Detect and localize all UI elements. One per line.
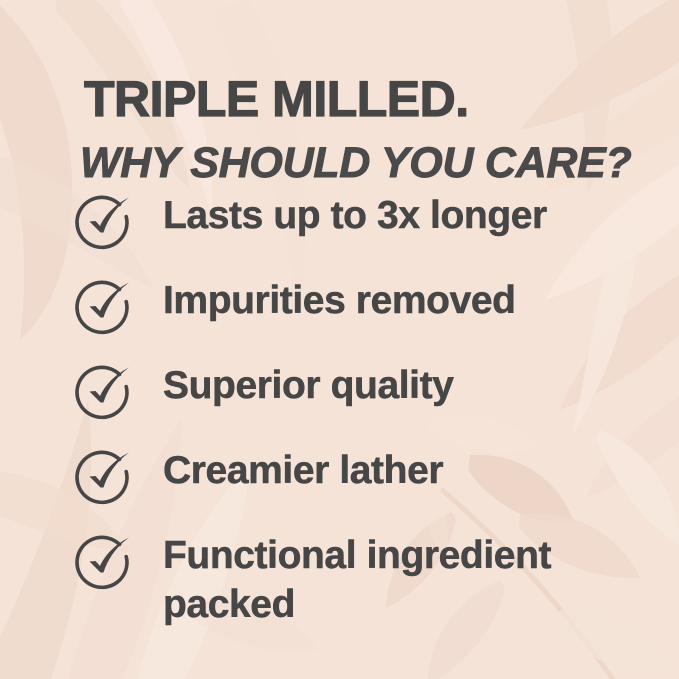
page-title: TRIPLE MILLED. [84,74,469,124]
list-item-label: Lasts up to 3x longer [163,191,618,240]
list-item: Functional ingredient packed [0,526,679,629]
check-circle-icon [74,277,136,339]
list-item-label: Creamier lather [163,446,618,495]
list-item: Lasts up to 3x longer [0,186,679,271]
check-circle-icon [74,362,136,424]
list-item: Impurities removed [0,271,679,356]
benefit-list: Lasts up to 3x longer Impurities removed… [0,186,679,629]
list-item: Superior quality [0,356,679,441]
poster-content: TRIPLE MILLED. WHY SHOULD YOU CARE? Last… [0,0,679,679]
poster-canvas: TRIPLE MILLED. WHY SHOULD YOU CARE? Last… [0,0,679,679]
check-circle-icon [74,447,136,509]
page-subtitle: WHY SHOULD YOU CARE? [80,142,631,185]
list-item: Creamier lather [0,441,679,526]
list-item-label: Impurities removed [163,276,618,325]
list-item-label: Superior quality [163,361,618,410]
list-item-label: Functional ingredient packed [163,531,618,629]
check-circle-icon [74,532,136,594]
check-circle-icon [74,192,136,254]
